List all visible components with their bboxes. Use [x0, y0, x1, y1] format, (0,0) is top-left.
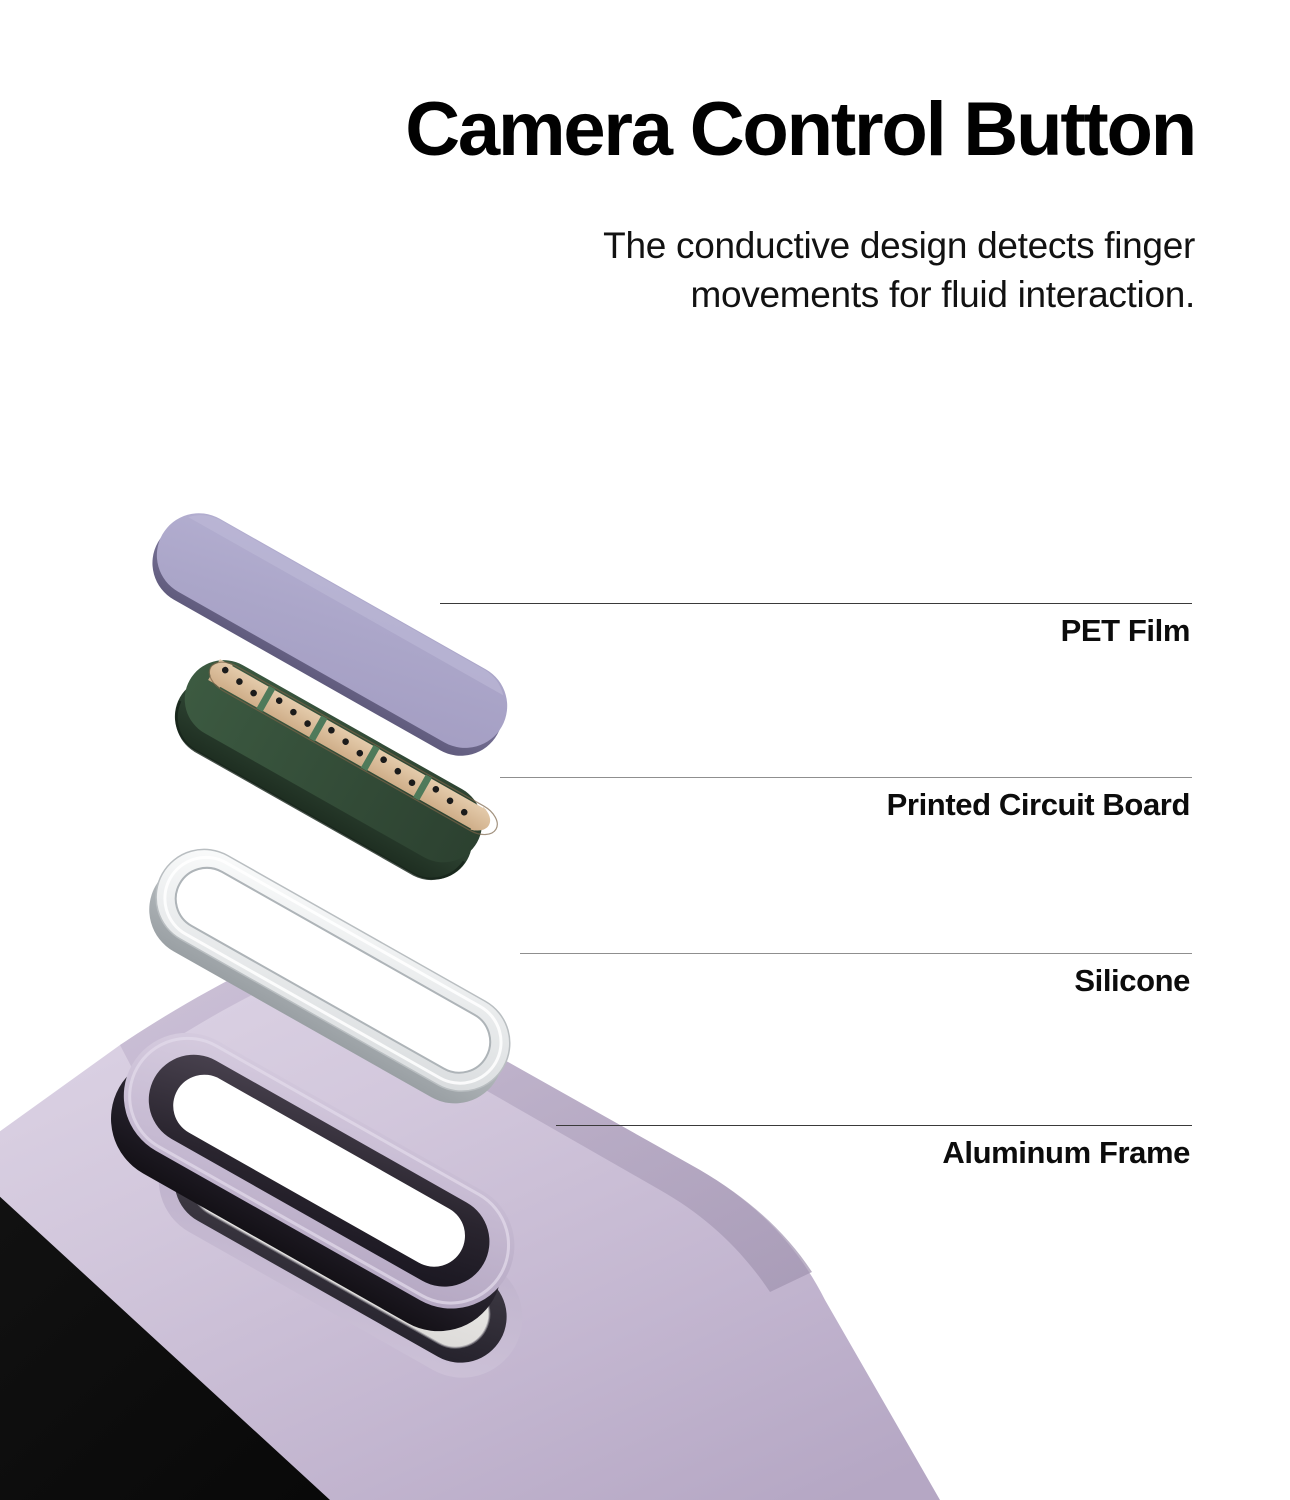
product-diagram-page: Camera Control Button The conductive des…	[0, 0, 1290, 1500]
diagram-canvas	[0, 0, 1290, 1500]
exploded-diagram	[0, 0, 1290, 1500]
